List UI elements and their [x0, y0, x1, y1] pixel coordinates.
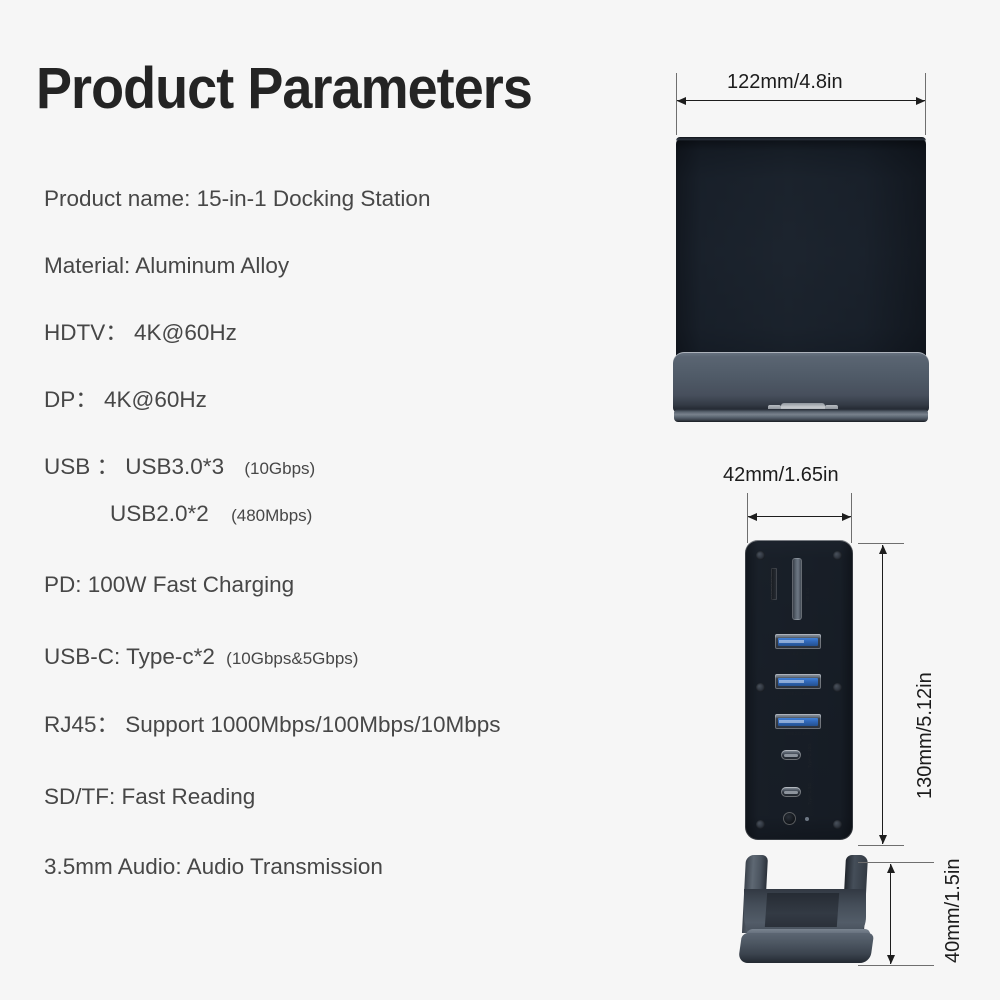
spec-row-rj45: RJ45： Support 1000Mbps/100Mbps/10Mbps: [44, 712, 501, 738]
spec-note: (480Mbps): [231, 506, 312, 525]
spec-note: (10Gbps): [244, 459, 315, 478]
usb-a-port-label: USB3.0 10G: [775, 691, 821, 696]
spec-row-usb2: USB2.0*2 (480Mbps): [44, 501, 312, 529]
led-indicator-icon: [805, 817, 809, 821]
sd-slot-label: SD 3.0: [805, 588, 810, 602]
spec-text: DP： 4K@60Hz: [44, 387, 207, 412]
microsd-slot-label: Micro SD/TF: [769, 576, 774, 602]
spec-text: USB2.0*2: [110, 501, 209, 526]
dock-base-plate: [674, 409, 928, 422]
usb-a-insert: [778, 678, 818, 686]
dimension-label-panel-height: 130mm/5.12in: [913, 672, 937, 799]
screw-icon: [833, 683, 842, 692]
dimension-label-stand-height: 40mm/1.5in: [941, 859, 965, 964]
dock-body: [676, 137, 926, 369]
extension-line-bottom: [858, 965, 934, 966]
spec-text: SD/TF: Fast Reading: [44, 784, 255, 809]
usb-c-port-label: Type-C 5G: [807, 783, 812, 805]
screw-icon: [756, 551, 765, 560]
spec-row-sdtf: SD/TF: Fast Reading: [44, 784, 255, 810]
spec-text: Material: Aluminum Alloy: [44, 253, 289, 278]
spec-text: Product name: 15-in-1 Docking Station: [44, 186, 430, 211]
extension-line-bottom: [858, 845, 904, 846]
stand-base: [738, 933, 874, 963]
usb-c-port: [781, 750, 801, 760]
spec-text: USB ： USB3.0*3: [44, 454, 224, 479]
spec-text: 3.5mm Audio: Audio Transmission: [44, 854, 383, 879]
extension-line-top: [858, 862, 934, 863]
dimension-arrow-panel-height: [882, 545, 883, 844]
dimension-arrow-front-width: [677, 100, 925, 101]
spec-row-hdtv: HDTV： 4K@60Hz: [44, 320, 237, 346]
dimension-arrow-stand-height: [890, 864, 891, 964]
screw-icon: [756, 820, 765, 829]
usb-a-port-label: USB3.0 5G: [775, 651, 821, 656]
spec-note: (10Gbps&5Gbps): [226, 649, 358, 668]
usb-a-port: [775, 714, 821, 729]
dimension-label-panel-width: 42mm/1.65in: [723, 463, 839, 487]
usb-a-port: [775, 634, 821, 649]
usb-a-insert: [778, 718, 818, 726]
screw-icon: [756, 683, 765, 692]
audio-jack-port: [783, 812, 796, 825]
spec-row-usb: USB ： USB3.0*3 (10Gbps): [44, 454, 315, 482]
spec-row-usbc: USB-C: Type-c*2 (10Gbps&5Gbps): [44, 644, 358, 672]
product-port-panel-view: Micro SD/TF SD 3.0 USB3.0 5G USB3.0 10G …: [745, 540, 853, 840]
product-stand-view: [740, 855, 882, 967]
screw-icon: [833, 820, 842, 829]
extension-line-right: [925, 73, 926, 135]
extension-line-top: [858, 543, 904, 544]
spec-row-dp: DP： 4K@60Hz: [44, 387, 207, 413]
spec-row-material: Material: Aluminum Alloy: [44, 253, 289, 279]
spec-row-product-name: Product name: 15-in-1 Docking Station: [44, 186, 430, 212]
spec-row-audio: 3.5mm Audio: Audio Transmission: [44, 854, 383, 880]
spec-text: PD: 100W Fast Charging: [44, 572, 294, 597]
usb-c-port-label: Type-C 10G: [807, 743, 812, 768]
usb-c-port: [781, 787, 801, 797]
page-title: Product Parameters: [36, 57, 532, 121]
screw-icon: [833, 551, 842, 560]
usb-a-insert: [778, 638, 818, 646]
dimension-label-front-width: 122mm/4.8in: [727, 70, 843, 94]
spec-text: USB-C: Type-c*2: [44, 644, 215, 669]
sd-card-slot: [792, 558, 802, 620]
spec-text: HDTV： 4K@60Hz: [44, 320, 237, 345]
dimension-arrow-panel-width: [748, 516, 851, 517]
product-parameters-page: Product Parameters Product name: 15-in-1…: [0, 0, 1000, 1000]
product-front-view: [673, 137, 929, 419]
spec-text: RJ45： Support 1000Mbps/100Mbps/10Mbps: [44, 712, 501, 737]
spec-row-pd: PD: 100W Fast Charging: [44, 572, 294, 598]
usb-a-port: [775, 674, 821, 689]
usb-a-port-label: USB3.0 10G: [775, 731, 821, 736]
stand-inner-pad: [765, 893, 839, 927]
extension-line-right: [851, 493, 852, 543]
